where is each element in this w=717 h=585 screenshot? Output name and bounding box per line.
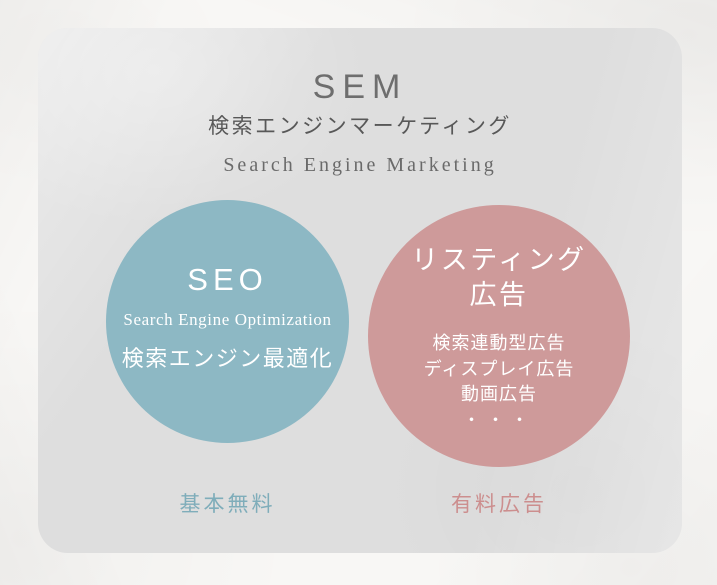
sem-diagram-card: SEM 検索エンジンマーケティング Search Engine Marketin… — [38, 28, 682, 553]
listing-ads-cost-caption: 有料広告 — [368, 492, 630, 517]
seo-subtitle-japanese: 検索エンジン最適化 — [122, 330, 334, 372]
page-title: SEM — [38, 28, 682, 106]
list-item: 検索連動型広告 — [424, 331, 575, 357]
list-item: ディスプレイ広告 — [424, 357, 575, 383]
listing-ads-title: リスティング 広告 — [411, 205, 586, 313]
seo-title: SEO — [187, 200, 267, 298]
seo-circle: SEO Search Engine Optimization 検索エンジン最適化 — [106, 200, 349, 443]
listing-ads-item-list: 検索連動型広告 ディスプレイ広告 動画広告 — [424, 313, 575, 408]
seo-subtitle-english: Search Engine Optimization — [123, 298, 331, 330]
page-subtitle-japanese: 検索エンジンマーケティング — [38, 106, 682, 139]
page-subtitle-english: Search Engine Marketing — [38, 139, 682, 177]
listing-ads-circle: リスティング 広告 検索連動型広告 ディスプレイ広告 動画広告 ・・・ — [368, 205, 630, 467]
list-item: 動画広告 — [424, 382, 575, 408]
diagram-header: SEM 検索エンジンマーケティング Search Engine Marketin… — [38, 28, 682, 177]
seo-cost-caption: 基本無料 — [106, 492, 349, 517]
listing-ads-continuation-dots: ・・・ — [463, 408, 535, 429]
